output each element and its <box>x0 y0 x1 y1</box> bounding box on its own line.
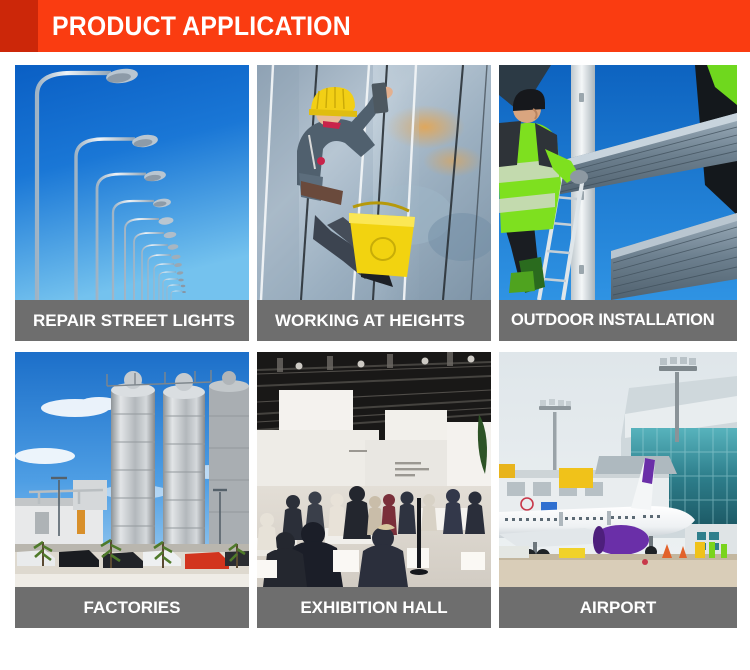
card-exhibition-hall[interactable]: EXHIBITION HALL <box>257 352 491 628</box>
caption-factories: FACTORIES <box>15 587 249 628</box>
caption-airport: AIRPORT <box>499 587 737 628</box>
card-repair-street-lights[interactable]: REPAIR STREET LIGHTS <box>15 65 249 341</box>
factory-silos-illustration <box>15 352 249 587</box>
outdoor-installation-illustration <box>499 65 737 300</box>
caption-exhibition-hall: EXHIBITION HALL <box>257 587 491 628</box>
card-outdoor-installation[interactable]: OUTDOOR INSTALLATION <box>499 65 737 341</box>
product-application-page: PRODUCT APPLICATION <box>0 0 750 670</box>
header-accent-bar <box>0 0 38 52</box>
page-title: PRODUCT APPLICATION <box>52 0 351 52</box>
airport-illustration <box>499 352 737 587</box>
thumbnail-exhibition-hall <box>257 352 491 587</box>
caption-repair-street-lights: REPAIR STREET LIGHTS <box>15 300 249 341</box>
card-factories[interactable]: FACTORIES <box>15 352 249 628</box>
card-airport[interactable]: AIRPORT <box>499 352 737 628</box>
thumbnail-repair-street-lights <box>15 65 249 300</box>
application-grid: REPAIR STREET LIGHTS <box>15 65 737 628</box>
thumbnail-outdoor-installation <box>499 65 737 300</box>
thumbnail-airport <box>499 352 737 587</box>
card-working-at-heights[interactable]: WORKING AT HEIGHTS <box>257 65 491 341</box>
thumbnail-factories <box>15 352 249 587</box>
street-lights-illustration <box>15 65 249 300</box>
thumbnail-working-at-heights <box>257 65 491 300</box>
caption-outdoor-installation: OUTDOOR INSTALLATION <box>499 300 737 341</box>
rope-access-worker-illustration <box>257 65 491 300</box>
caption-working-at-heights: WORKING AT HEIGHTS <box>257 300 491 341</box>
page-header: PRODUCT APPLICATION <box>0 0 750 52</box>
exhibition-hall-illustration <box>257 352 491 587</box>
